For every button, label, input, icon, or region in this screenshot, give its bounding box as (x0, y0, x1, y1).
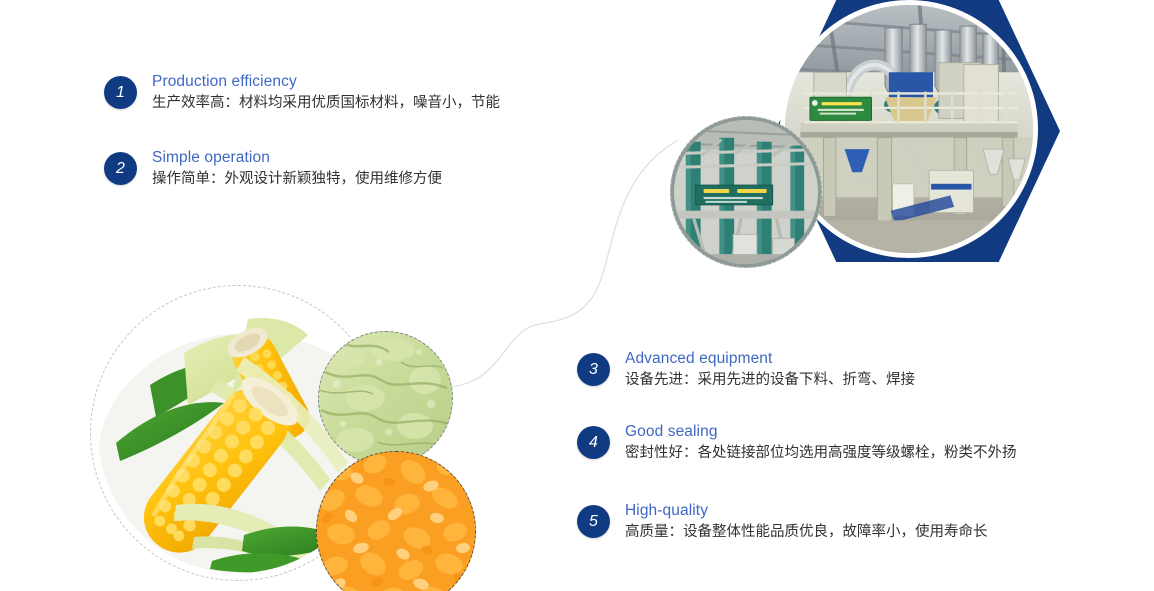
feature-title-4: Good sealing (625, 422, 1017, 442)
feature-number-badge-4: 4 (577, 426, 610, 459)
feature-text-5: High-quality 高质量：设备整体性能品质优良，故障率小，使用寿命长 (625, 501, 988, 543)
green-corn-paste-photo (318, 331, 453, 466)
feature-item-3: 3 Advanced equipment 设备先进：采用先进的设备下料、折弯、焊… (577, 353, 915, 391)
feature-title-2: Simple operation (152, 148, 442, 168)
feature-title-5: High-quality (625, 501, 988, 521)
feature-number-badge-2: 2 (104, 152, 137, 185)
feature-text-4: Good sealing 密封性好：各处链接部位均选用高强度等级螺栓，粉类不外扬 (625, 422, 1017, 464)
feature-item-4: 4 Good sealing 密封性好：各处链接部位均选用高强度等级螺栓，粉类不… (577, 426, 1017, 464)
feature-number-badge-3: 3 (577, 353, 610, 386)
feature-description-4: 密封性好：各处链接部位均选用高强度等级螺栓，粉类不外扬 (625, 443, 1017, 464)
feature-text-1: Production efficiency 生产效率高：材料均采用优质国标材料，… (152, 72, 500, 114)
corn-photo-group (88, 283, 508, 591)
feature-text-3: Advanced equipment 设备先进：采用先进的设备下料、折弯、焊接 (625, 349, 915, 391)
flour-milling-plant-photo (780, 0, 1038, 258)
feature-text-2: Simple operation 操作简单：外观设计新颖独特，使用维修方便 (152, 148, 442, 190)
feature-item-1: 1 Production efficiency 生产效率高：材料均采用优质国标材… (104, 76, 500, 114)
feature-number-badge-5: 5 (577, 505, 610, 538)
feature-description-2: 操作简单：外观设计新颖独特，使用维修方便 (152, 169, 442, 190)
feature-number-badge-1: 1 (104, 76, 137, 109)
feature-item-5: 5 High-quality 高质量：设备整体性能品质优良，故障率小，使用寿命长 (577, 505, 988, 543)
green-milling-machinery-photo (670, 116, 822, 268)
feature-title-3: Advanced equipment (625, 349, 915, 369)
feature-highlight-page: 1 Production efficiency 生产效率高：材料均采用优质国标材… (0, 0, 1154, 591)
feature-item-2: 2 Simple operation 操作简单：外观设计新颖独特，使用维修方便 (104, 152, 442, 190)
hexagon-photo-group (655, 0, 1075, 294)
feature-title-1: Production efficiency (152, 72, 500, 92)
feature-description-3: 设备先进：采用先进的设备下料、折弯、焊接 (625, 370, 915, 391)
orange-corn-grits-photo (316, 451, 476, 591)
feature-description-1: 生产效率高：材料均采用优质国标材料，噪音小，节能 (152, 93, 500, 114)
feature-description-5: 高质量：设备整体性能品质优良，故障率小，使用寿命长 (625, 522, 988, 543)
